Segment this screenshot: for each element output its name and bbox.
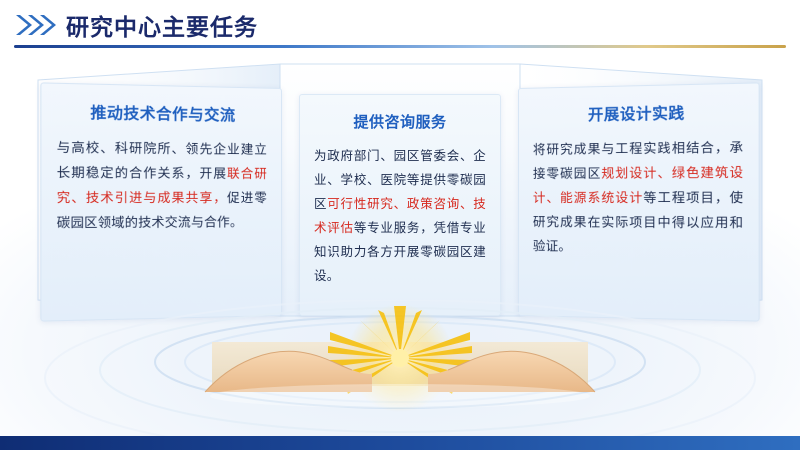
task-card-2-body: 为政府部门、园区管委会、企业、学校、医院等提供零碳园区可行性研究、政策咨询、技术… bbox=[314, 144, 486, 288]
bottom-accent-bar bbox=[0, 436, 800, 450]
slide: 研究中心主要任务 推动技术合作与交流 与高校、科研院所、领先企业 bbox=[0, 0, 800, 450]
task-card-1-title: 推动技术合作与交流 bbox=[57, 101, 267, 126]
task-cards: 推动技术合作与交流 与高校、科研院所、领先企业建立长期稳定的合作关系，开展联合研… bbox=[0, 0, 800, 340]
task-card-3-body: 将研究成果与工程实践相结合，承接零碳园区规划设计、绿色建筑设计、能源系统设计等工… bbox=[533, 135, 743, 261]
task-card-2-title: 提供咨询服务 bbox=[314, 111, 486, 132]
task-card-2[interactable]: 提供咨询服务 为政府部门、园区管委会、企业、学校、医院等提供零碳园区可行性研究、… bbox=[299, 94, 501, 316]
task-card-3-title: 开展设计实践 bbox=[533, 101, 743, 126]
stage-illustration bbox=[0, 300, 800, 450]
task-card-1-body: 与高校、科研院所、领先企业建立长期稳定的合作关系，开展联合研究、技术引进与成果共… bbox=[57, 135, 267, 235]
task-card-3[interactable]: 开展设计实践 将研究成果与工程实践相结合，承接零碳园区规划设计、绿色建筑设计、能… bbox=[518, 82, 760, 321]
task-card-1[interactable]: 推动技术合作与交流 与高校、科研院所、领先企业建立长期稳定的合作关系，开展联合研… bbox=[40, 82, 282, 321]
